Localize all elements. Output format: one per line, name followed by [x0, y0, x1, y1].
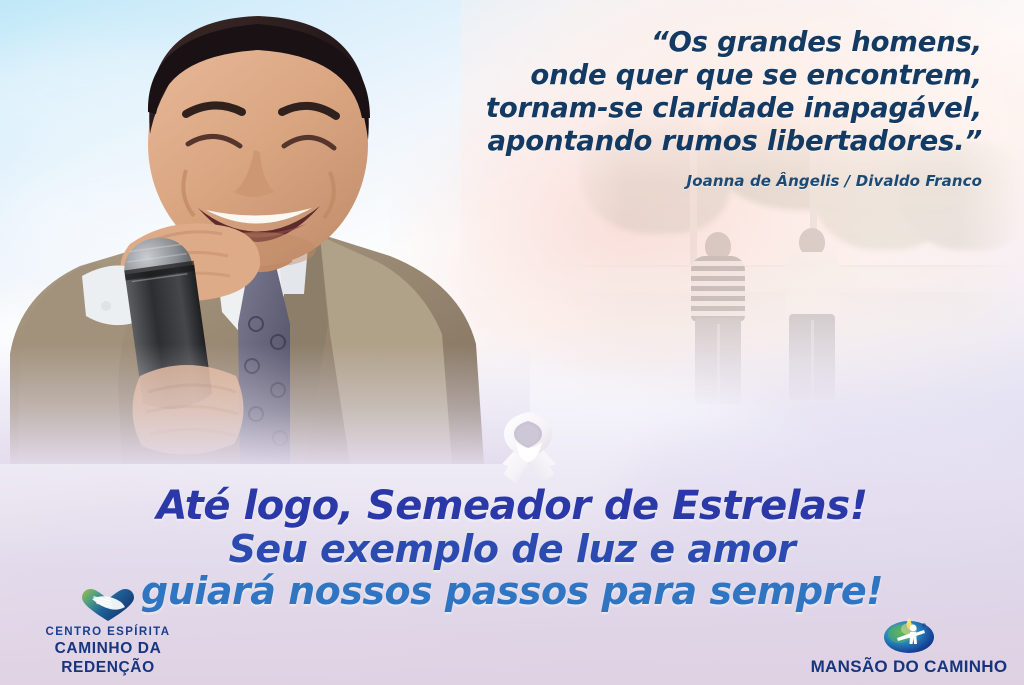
headline-line-2: Seu exemplo de luz e amor: [0, 528, 1024, 570]
logo-mansao-do-caminho: MANSÃO DO CAMINHO: [804, 616, 1014, 677]
heart-hands-icon: [80, 588, 136, 622]
logo-right-line-1: MANSÃO DO CAMINHO: [804, 657, 1014, 677]
quote-line-4: apontando rumos libertadores.”: [422, 125, 982, 158]
quote-line-3: tornam-se claridade inapagável,: [422, 92, 982, 125]
quote-block: “Os grandes homens, onde quer que se enc…: [422, 26, 982, 190]
logo-left-line-1: CENTRO ESPÍRITA: [8, 625, 208, 639]
logo-centro-espirita: CENTRO ESPÍRITA CAMINHO DA REDENÇÃO: [8, 588, 208, 677]
quote-line-1: “Os grandes homens,: [422, 26, 982, 59]
quote-line-2: onde quer que se encontrem,: [422, 59, 982, 92]
logo-left-line-2: CAMINHO DA REDENÇÃO: [8, 639, 208, 677]
headline-line-1: Até logo, Semeador de Estrelas!: [0, 484, 1024, 528]
mourning-ribbon-icon: [492, 408, 564, 486]
memorial-poster: “Os grandes homens, onde quer que se enc…: [0, 0, 1024, 685]
globe-figure-icon: [883, 616, 935, 654]
quote-attribution: Joanna de Ângelis / Divaldo Franco: [422, 172, 982, 190]
